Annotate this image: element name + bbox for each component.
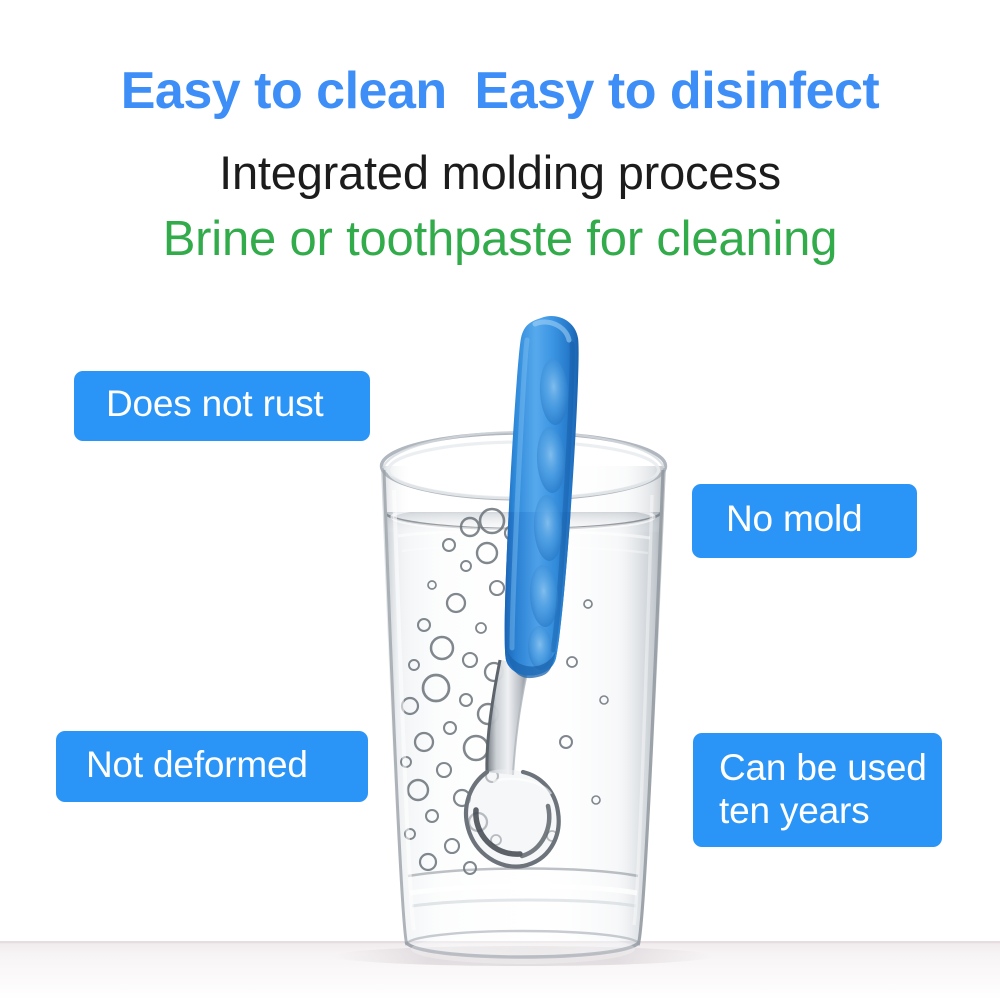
product-infographic: Easy to clean Easy to disinfect Integrat…: [0, 0, 1000, 1000]
badge-not-deformed: Not deformed: [56, 731, 368, 802]
badge-does-not-rust: Does not rust: [74, 371, 370, 441]
badge-no-mold: No mold: [692, 484, 917, 558]
badge-can-be-used-ten-years: Can be used ten years: [693, 733, 942, 847]
